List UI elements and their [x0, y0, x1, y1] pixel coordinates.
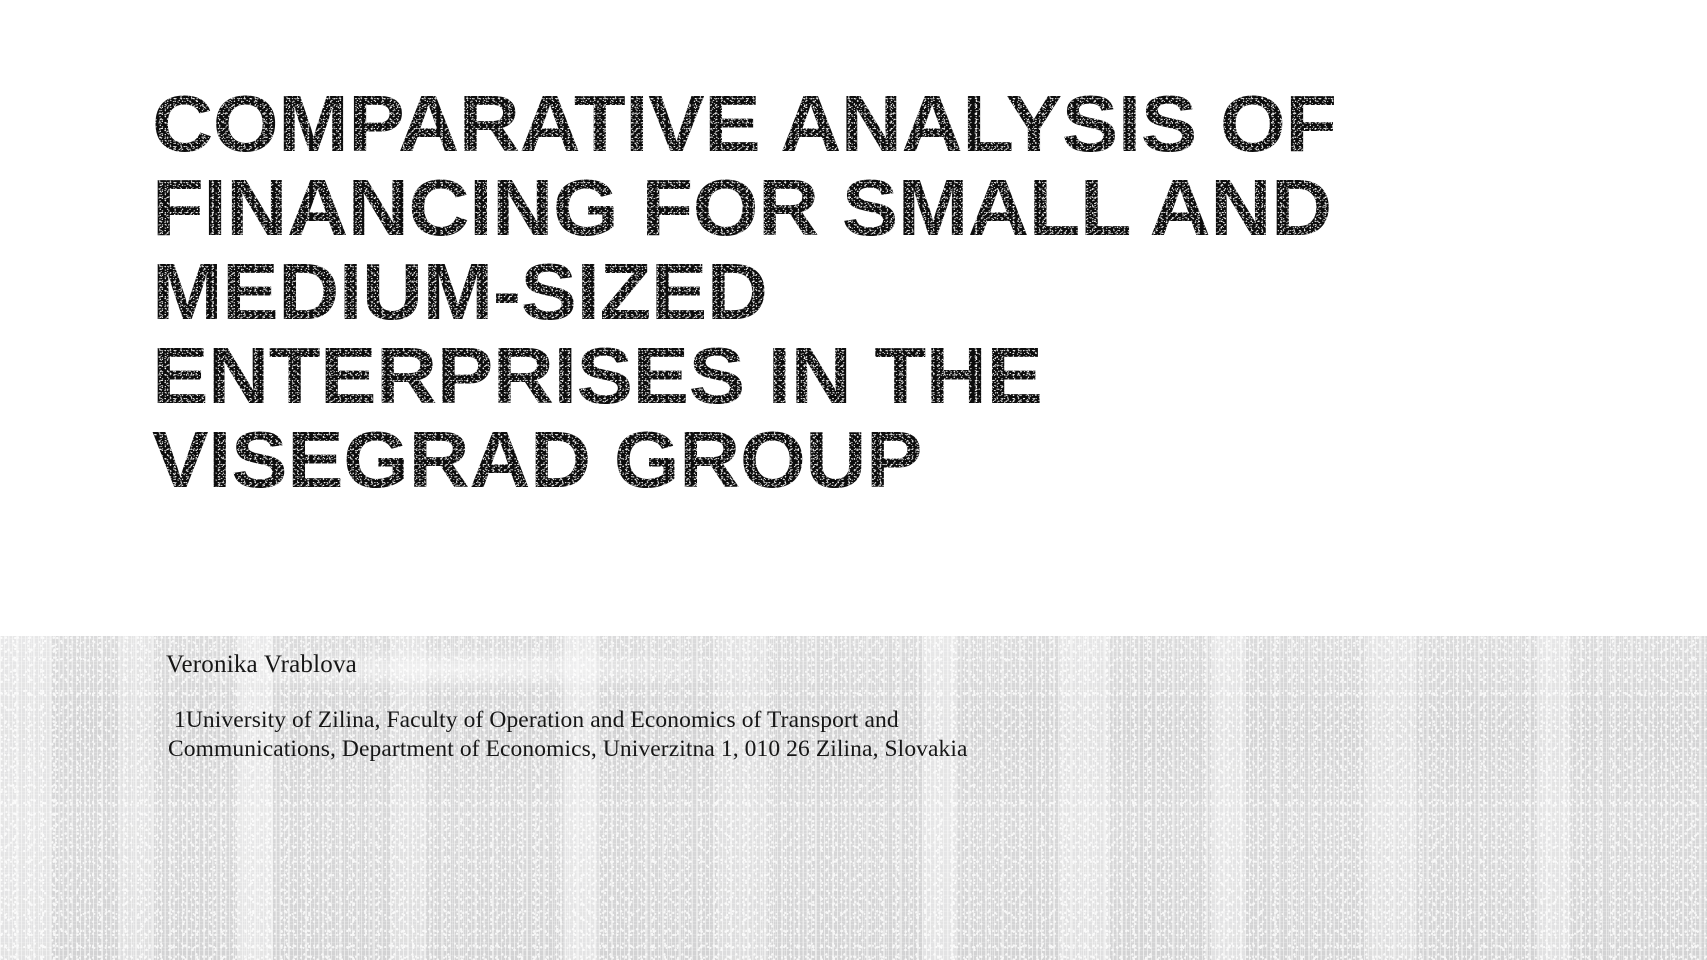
affiliation-line-2: Communications, Department of Economics,… — [168, 735, 1108, 764]
title-line-2: FINANCING FOR SMALL AND — [152, 166, 1530, 250]
title-line-5: VISEGRAD GROUP — [152, 418, 1530, 502]
footer-texture-band: Veronika Vrablova 1University of Zilina,… — [0, 636, 1707, 960]
author-name: Veronika Vrablova — [166, 650, 357, 680]
title-slide: COMPARATIVE ANALYSIS OF FINANCING FOR SM… — [0, 0, 1707, 960]
title-line-4: ENTERPRISES IN THE — [152, 334, 1530, 418]
title-line-1: COMPARATIVE ANALYSIS OF — [152, 82, 1530, 166]
author-affiliation: 1University of Zilina, Faculty of Operat… — [168, 706, 1108, 764]
title-line-3: MEDIUM-SIZED — [152, 250, 1530, 334]
affiliation-line-1: 1University of Zilina, Faculty of Operat… — [168, 706, 1108, 735]
credits-block: Veronika Vrablova 1University of Zilina,… — [0, 636, 1707, 960]
page-title: COMPARATIVE ANALYSIS OF FINANCING FOR SM… — [152, 82, 1452, 502]
